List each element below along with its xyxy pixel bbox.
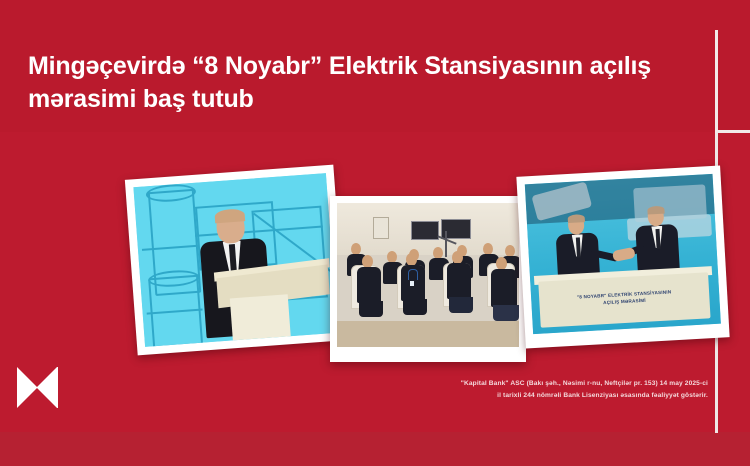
- photo-handshake-image: "8 NOYABR" ELEKTRİK STANSİYASININ AÇILIŞ…: [525, 174, 721, 334]
- legal-disclaimer: "Kapital Bank" ASC (Bakı şəh., Nəsimi r-…: [398, 378, 708, 402]
- person-hair: [568, 214, 585, 223]
- background-band-bottom: [0, 432, 750, 466]
- photo-audience-image: [337, 203, 519, 347]
- attendee-legs: [359, 301, 383, 317]
- attendee-torso: [491, 269, 517, 307]
- decorative-horizontal-line: [715, 130, 750, 133]
- attendee-legs: [449, 297, 473, 313]
- person-hair: [647, 206, 664, 215]
- logo-bottom-triangle: [17, 388, 57, 408]
- attendee-legs: [493, 305, 519, 321]
- attendee-torso: [357, 267, 381, 303]
- legal-disclaimer-line-1: "Kapital Bank" ASC (Bakı şəh., Nəsimi r-…: [398, 378, 708, 390]
- wall-monitor-left: [411, 221, 439, 240]
- attendee-torso: [447, 263, 471, 299]
- decorative-vertical-line-top: [715, 30, 718, 131]
- page-title: Mingəçevirdə “8 Noyabr” Elektrik Stansiy…: [28, 50, 668, 116]
- attendee-legs: [403, 299, 427, 315]
- photo-speech[interactable]: [125, 165, 346, 356]
- camera-tripod-leg: [445, 231, 447, 257]
- photo-audience[interactable]: [330, 196, 526, 362]
- speaker-hair: [214, 208, 245, 223]
- news-banner-poster: Mingəçevirdə “8 Noyabr” Elektrik Stansiy…: [0, 0, 750, 466]
- wall-speaker: [373, 217, 389, 239]
- attendee-lanyard: [408, 269, 418, 280]
- kapital-bank-logo[interactable]: [17, 367, 58, 408]
- legal-disclaimer-line-2: il tarixli 244 nömrəli Bank Lisenziyası …: [398, 390, 708, 402]
- podium-base: [230, 294, 291, 342]
- logo-top-triangle: [17, 367, 57, 387]
- photo-speech-image: [133, 173, 337, 347]
- hall-floor: [337, 321, 519, 347]
- photo-handshake[interactable]: "8 NOYABR" ELEKTRİK STANSİYASININ AÇILIŞ…: [516, 165, 729, 348]
- attendee-badge: [410, 281, 414, 286]
